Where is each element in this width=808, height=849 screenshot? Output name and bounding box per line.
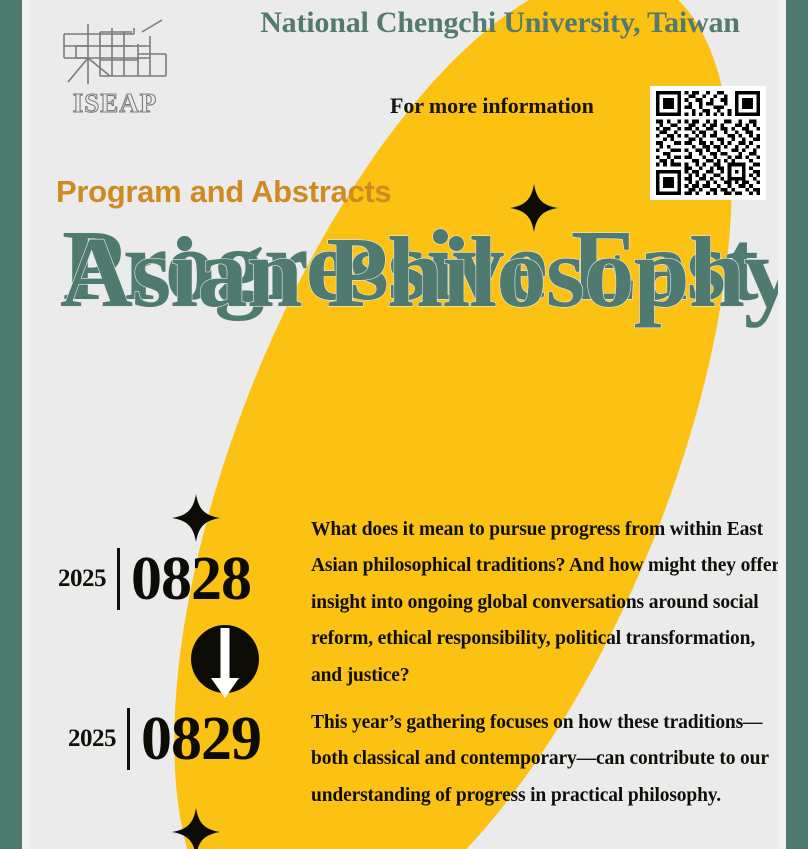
down-arrow-icon [190, 624, 260, 700]
date-year: 2025 [58, 565, 117, 593]
date-monthday: 0829 [141, 708, 261, 770]
qr-code[interactable] [650, 86, 766, 200]
conference-poster: ISEAP National Chengchi University, Taiw… [0, 0, 808, 849]
program-and-abstracts-label: Program and Abstracts [56, 174, 391, 210]
headline-line-2: Asian Philosophy [34, 265, 778, 280]
date-monthday: 0828 [131, 548, 251, 610]
left-border-stripe [0, 0, 22, 849]
left-edge-gap [22, 0, 30, 849]
more-information-label: For more information [390, 93, 594, 119]
sparkle-icon-top [508, 182, 560, 234]
date-row: 2025 0828 [58, 548, 251, 610]
description-paragraph-2: This year’s gathering focuses on how the… [311, 705, 778, 814]
date-year: 2025 [68, 725, 127, 753]
sparkle-icon-middle [170, 492, 222, 544]
page-title: Progressive East Asian Philosophy [34, 258, 778, 281]
date-row: 2025 0829 [68, 708, 261, 770]
sparkle-icon-bottom [170, 806, 222, 849]
right-border-stripe [786, 0, 808, 849]
description-paragraph-1: What does it mean to pursue progress fro… [311, 512, 778, 694]
right-edge-gap [778, 0, 786, 849]
date-divider [127, 708, 130, 770]
svg-text:ISEAP: ISEAP [73, 88, 158, 118]
iseap-logo: ISEAP [54, 14, 176, 118]
university-title: National Chengchi University, Taiwan [220, 6, 778, 40]
date-divider [117, 548, 120, 610]
poster-canvas: ISEAP National Chengchi University, Taiw… [30, 0, 778, 849]
